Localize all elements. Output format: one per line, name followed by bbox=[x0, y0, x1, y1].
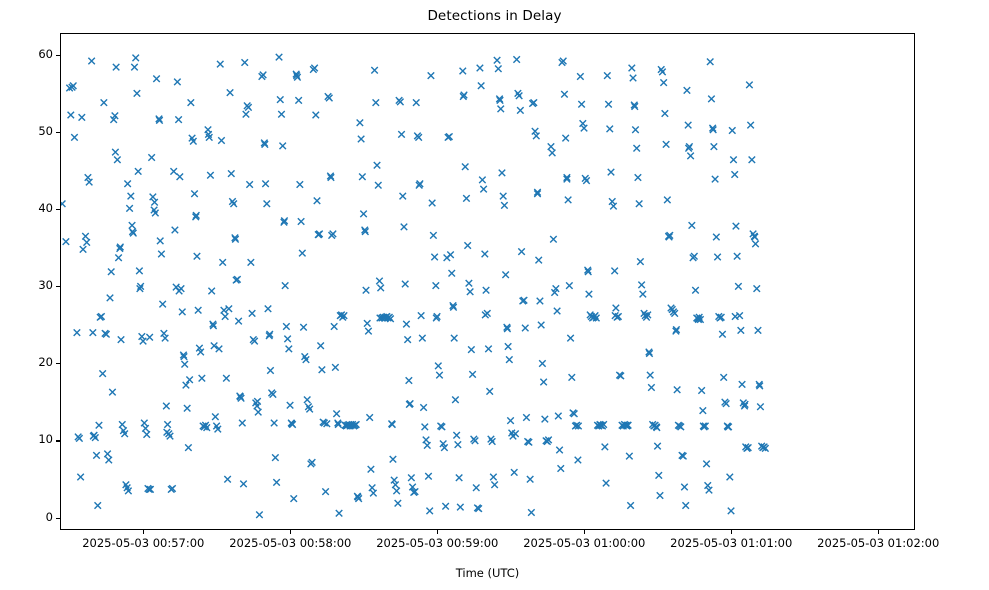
scatter-point bbox=[134, 90, 141, 97]
scatter-point bbox=[264, 201, 271, 208]
scatter-point bbox=[331, 323, 338, 330]
scatter-point bbox=[218, 137, 225, 144]
x-tick-label: 2025-05-03 01:01:00 bbox=[670, 536, 792, 550]
scatter-point bbox=[485, 346, 492, 353]
scatter-point bbox=[131, 64, 138, 71]
scatter-point bbox=[143, 431, 150, 438]
scatter-point bbox=[732, 313, 739, 320]
scatter-point bbox=[271, 420, 278, 427]
scatter-point bbox=[112, 149, 119, 156]
y-axis-ticks: 0102030405060 bbox=[0, 33, 60, 530]
scatter-point bbox=[603, 480, 610, 487]
scatter-point bbox=[153, 76, 160, 83]
scatter-point bbox=[86, 179, 93, 186]
scatter-point bbox=[164, 421, 171, 428]
scatter-point bbox=[602, 444, 609, 451]
scatter-point bbox=[469, 371, 476, 378]
scatter-point bbox=[136, 268, 143, 275]
x-tick-mark bbox=[143, 530, 144, 534]
scatter-point bbox=[626, 453, 633, 460]
scatter-point bbox=[538, 322, 545, 329]
scatter-point bbox=[373, 99, 380, 106]
scatter-point bbox=[654, 443, 661, 450]
scatter-point bbox=[170, 168, 177, 175]
scatter-point bbox=[611, 268, 618, 275]
scatter-point bbox=[132, 55, 139, 62]
scatter-point bbox=[418, 312, 425, 319]
scatter-point bbox=[511, 469, 517, 476]
scatter-point bbox=[241, 59, 248, 66]
scatter-point bbox=[489, 438, 496, 445]
scatter-point bbox=[463, 195, 470, 202]
scatter-point bbox=[219, 259, 226, 266]
scatter-point bbox=[714, 254, 721, 261]
scatter-point bbox=[306, 406, 313, 413]
scatter-point bbox=[282, 282, 289, 289]
scatter-point bbox=[221, 307, 228, 314]
scatter-point bbox=[720, 374, 727, 381]
scatter-point bbox=[255, 409, 262, 416]
scatter-point bbox=[725, 424, 732, 431]
scatter-point bbox=[528, 509, 535, 515]
scatter-point bbox=[158, 251, 165, 258]
scatter-point bbox=[577, 73, 584, 80]
x-tick-label: 2025-05-03 00:57:00 bbox=[82, 536, 204, 550]
scatter-point bbox=[77, 474, 84, 481]
scatter-point bbox=[466, 280, 473, 287]
scatter-point bbox=[179, 309, 186, 316]
scatter-point bbox=[157, 238, 164, 245]
scatter-point bbox=[542, 416, 549, 423]
scatter-point bbox=[460, 68, 467, 75]
scatter-point bbox=[184, 405, 191, 412]
scatter-point bbox=[118, 336, 125, 343]
scatter-point bbox=[222, 313, 229, 320]
scatter-point bbox=[430, 232, 437, 239]
scatter-point bbox=[183, 382, 190, 389]
scatter-point bbox=[583, 177, 590, 184]
scatter-point bbox=[480, 186, 487, 193]
scatter-point bbox=[578, 101, 585, 108]
scatter-point bbox=[83, 239, 90, 246]
scatter-point bbox=[500, 193, 507, 200]
scatter-point bbox=[313, 112, 320, 119]
scatter-point bbox=[90, 329, 97, 336]
scatter-point bbox=[555, 413, 562, 420]
scatter-point bbox=[535, 257, 542, 264]
scatter-point bbox=[706, 487, 713, 494]
scatter-point bbox=[495, 65, 502, 72]
scatter-point bbox=[713, 234, 720, 241]
scatter-point bbox=[428, 72, 435, 79]
scatter-point bbox=[150, 194, 157, 201]
scatter-point bbox=[730, 157, 737, 163]
scatter-marker-group bbox=[60, 54, 769, 518]
scatter-point bbox=[425, 473, 432, 480]
scatter-point bbox=[317, 343, 324, 350]
scatter-point bbox=[523, 414, 530, 421]
scatter-point bbox=[638, 282, 645, 289]
scatter-point bbox=[477, 65, 484, 72]
scatter-point bbox=[687, 153, 694, 160]
scatter-point bbox=[456, 475, 463, 482]
scatter-point bbox=[403, 321, 410, 328]
scatter-point bbox=[444, 255, 451, 261]
scatter-point bbox=[648, 384, 655, 391]
scatter-point bbox=[395, 500, 402, 507]
scatter-point bbox=[746, 82, 753, 89]
scatter-point bbox=[141, 420, 148, 427]
scatter-point bbox=[142, 425, 149, 432]
scatter-point bbox=[95, 502, 102, 509]
scatter-point bbox=[682, 502, 689, 509]
scatter-point bbox=[562, 135, 569, 142]
scatter-point bbox=[71, 134, 78, 141]
scatter-point bbox=[610, 203, 617, 210]
scatter-point bbox=[453, 432, 460, 439]
scatter-point bbox=[486, 388, 493, 395]
scatter-point bbox=[374, 162, 381, 169]
scatter-point bbox=[413, 99, 420, 106]
scatter-point bbox=[363, 287, 370, 294]
scatter-point bbox=[226, 305, 233, 312]
scatter-point bbox=[729, 127, 736, 134]
scatter-point bbox=[392, 481, 399, 488]
scatter-point bbox=[567, 335, 574, 342]
scatter-point bbox=[565, 197, 572, 204]
scatter-point bbox=[85, 174, 92, 181]
scatter-point bbox=[273, 479, 280, 486]
x-axis-ticks: 2025-05-03 00:57:002025-05-03 00:58:0020… bbox=[60, 530, 915, 570]
scatter-point bbox=[104, 451, 111, 458]
scatter-point bbox=[532, 128, 539, 134]
scatter-point bbox=[230, 201, 237, 208]
scatter-point bbox=[235, 318, 242, 325]
scatter-point bbox=[550, 236, 557, 243]
scatter-point bbox=[580, 120, 587, 127]
scatter-point bbox=[88, 58, 94, 65]
scatter-point bbox=[517, 107, 524, 114]
scatter-point bbox=[513, 56, 520, 63]
scatter-point bbox=[391, 477, 398, 484]
scatter-point bbox=[207, 172, 214, 179]
scatter-point bbox=[575, 457, 582, 464]
scatter-point bbox=[533, 133, 540, 140]
scatter-point bbox=[278, 111, 285, 118]
scatter-point bbox=[82, 233, 89, 240]
scatter-point bbox=[501, 202, 508, 209]
scatter-point bbox=[613, 305, 620, 312]
scatter-point bbox=[164, 429, 171, 436]
scatter-point bbox=[376, 278, 383, 285]
scatter-point bbox=[498, 106, 505, 113]
scatter-point bbox=[630, 75, 637, 82]
scatter-point bbox=[369, 485, 376, 492]
scatter-point bbox=[473, 485, 480, 492]
scatter-point bbox=[333, 410, 340, 417]
scatter-point bbox=[734, 253, 741, 260]
scatter-point bbox=[423, 437, 430, 444]
scatter-point bbox=[455, 441, 462, 448]
scatter-point bbox=[703, 461, 710, 468]
scatter-point bbox=[539, 360, 546, 367]
scatter-point bbox=[491, 481, 498, 488]
y-tick-label: 10 bbox=[0, 432, 53, 446]
scatter-point bbox=[267, 367, 274, 374]
scatter-point bbox=[707, 59, 714, 66]
scatter-series bbox=[61, 34, 915, 530]
scatter-point bbox=[719, 331, 726, 338]
scatter-point bbox=[248, 259, 255, 266]
scatter-point bbox=[692, 287, 699, 294]
scatter-point bbox=[284, 336, 291, 343]
scatter-point bbox=[452, 397, 459, 404]
scatter-point bbox=[249, 310, 256, 317]
scatter-point bbox=[276, 54, 283, 61]
scatter-point bbox=[139, 333, 146, 340]
scatter-point bbox=[607, 126, 614, 133]
scatter-point bbox=[663, 141, 670, 148]
scatter-point bbox=[569, 374, 576, 381]
scatter-point bbox=[566, 282, 573, 289]
scatter-point bbox=[478, 82, 485, 89]
scatter-point bbox=[240, 481, 247, 488]
scatter-point bbox=[295, 97, 302, 104]
scatter-point bbox=[502, 272, 509, 279]
scatter-point bbox=[479, 177, 486, 184]
scatter-point bbox=[176, 288, 183, 295]
scatter-point bbox=[208, 288, 215, 295]
scatter-point bbox=[80, 246, 87, 253]
x-tick-mark bbox=[878, 530, 879, 534]
scatter-point bbox=[681, 484, 688, 491]
scatter-point bbox=[223, 375, 230, 382]
scatter-point bbox=[494, 57, 501, 64]
y-tick-label: 60 bbox=[0, 47, 53, 61]
scatter-point bbox=[442, 503, 449, 510]
scatter-point bbox=[277, 96, 284, 103]
scatter-point bbox=[664, 197, 671, 204]
scatter-point bbox=[400, 193, 407, 200]
scatter-point bbox=[96, 422, 103, 429]
scatter-point bbox=[506, 356, 513, 363]
scatter-point bbox=[404, 336, 411, 343]
scatter-point bbox=[212, 414, 219, 421]
scatter-point bbox=[135, 168, 142, 175]
scatter-point bbox=[537, 298, 544, 305]
scatter-point bbox=[194, 253, 201, 260]
scatter-point bbox=[68, 112, 75, 119]
scatter-point bbox=[727, 474, 734, 481]
scatter-point bbox=[640, 291, 647, 298]
scatter-point bbox=[359, 174, 366, 181]
scatter-point bbox=[375, 182, 382, 189]
scatter-point bbox=[749, 157, 756, 163]
scatter-point bbox=[283, 323, 290, 330]
scatter-point bbox=[106, 457, 113, 464]
scatter-point bbox=[561, 91, 568, 98]
scatter-point bbox=[527, 476, 534, 483]
scatter-point bbox=[406, 377, 413, 384]
scatter-point bbox=[360, 211, 367, 218]
scatter-point bbox=[633, 145, 640, 152]
scatter-point bbox=[507, 417, 514, 424]
x-tick-label: 2025-05-03 00:58:00 bbox=[229, 536, 351, 550]
scatter-point bbox=[467, 289, 474, 296]
scatter-point bbox=[177, 174, 184, 181]
x-tick-mark bbox=[731, 530, 732, 534]
scatter-point bbox=[731, 171, 738, 178]
scatter-point bbox=[390, 456, 397, 463]
scatter-point bbox=[227, 89, 234, 96]
scatter-point bbox=[735, 283, 742, 290]
scatter-point bbox=[647, 372, 654, 379]
scatter-point bbox=[656, 472, 663, 479]
scatter-point bbox=[151, 199, 158, 206]
scatter-point bbox=[449, 270, 456, 277]
scatter-point bbox=[757, 404, 764, 411]
scatter-point bbox=[389, 421, 396, 428]
scatter-point bbox=[286, 346, 293, 353]
scatter-point bbox=[433, 282, 440, 289]
scatter-point bbox=[705, 482, 712, 489]
scatter-point bbox=[371, 67, 378, 74]
scatter-point bbox=[107, 295, 114, 302]
scatter-point bbox=[435, 363, 442, 370]
scatter-point bbox=[482, 251, 489, 258]
scatter-point bbox=[265, 305, 272, 312]
scatter-point bbox=[401, 224, 408, 231]
scatter-point bbox=[239, 420, 246, 427]
scatter-point bbox=[314, 197, 321, 204]
scatter-point bbox=[305, 404, 312, 411]
scatter-point bbox=[115, 255, 122, 261]
scatter-point bbox=[262, 180, 269, 187]
scatter-point bbox=[186, 376, 193, 383]
scatter-point bbox=[457, 504, 464, 511]
scatter-point bbox=[191, 191, 198, 198]
y-tick-label: 20 bbox=[0, 355, 53, 369]
scatter-point bbox=[608, 169, 615, 176]
scatter-point bbox=[181, 361, 188, 368]
scatter-point bbox=[658, 66, 665, 73]
scatter-point bbox=[755, 327, 762, 334]
scatter-point bbox=[462, 163, 469, 170]
scatter-point bbox=[108, 268, 115, 275]
scatter-point bbox=[370, 490, 377, 497]
x-tick-label: 2025-05-03 00:59:00 bbox=[376, 536, 498, 550]
scatter-point bbox=[332, 364, 339, 371]
scatter-point bbox=[490, 474, 497, 481]
scatter-point bbox=[148, 154, 155, 161]
scatter-point bbox=[408, 475, 415, 482]
y-tick-label: 40 bbox=[0, 201, 53, 215]
scatter-point bbox=[364, 320, 371, 327]
scatter-point bbox=[420, 404, 427, 411]
scatter-point bbox=[739, 381, 746, 388]
scatter-point bbox=[636, 201, 643, 208]
scatter-point bbox=[146, 334, 153, 341]
scatter-point bbox=[711, 143, 718, 150]
scatter-point bbox=[322, 488, 329, 495]
scatter-point bbox=[657, 492, 664, 499]
scatter-point bbox=[199, 375, 206, 382]
scatter-point bbox=[365, 328, 372, 335]
scatter-point bbox=[243, 111, 250, 118]
scatter-point bbox=[129, 222, 136, 229]
scatter-point bbox=[422, 424, 429, 431]
scatter-point bbox=[548, 143, 555, 150]
scatter-point bbox=[733, 223, 740, 230]
scatter-point bbox=[229, 198, 236, 205]
scatter-point bbox=[195, 307, 202, 314]
scatter-point bbox=[674, 387, 681, 394]
scatter-point bbox=[419, 335, 426, 342]
scatter-point bbox=[159, 301, 166, 308]
x-axis-label: Time (UTC) bbox=[60, 566, 915, 580]
scatter-point bbox=[515, 90, 522, 97]
x-tick-mark bbox=[290, 530, 291, 534]
scatter-point bbox=[698, 387, 705, 394]
scatter-point bbox=[161, 330, 168, 337]
scatter-point bbox=[747, 122, 754, 129]
scatter-point bbox=[93, 452, 100, 459]
scatter-point bbox=[662, 110, 669, 117]
scatter-point bbox=[429, 200, 436, 207]
x-tick-label: 2025-05-03 01:00:00 bbox=[523, 536, 645, 550]
scatter-point bbox=[366, 414, 373, 421]
scatter-point bbox=[279, 143, 286, 150]
scatter-point bbox=[398, 131, 405, 138]
scatter-point bbox=[290, 495, 297, 502]
y-tick-label: 50 bbox=[0, 124, 53, 138]
scatter-point bbox=[632, 126, 639, 133]
scatter-point bbox=[426, 508, 433, 515]
scatter-point bbox=[336, 510, 343, 517]
scatter-point bbox=[109, 389, 116, 396]
scatter-point bbox=[113, 64, 120, 71]
scatter-point bbox=[224, 476, 231, 483]
scatter-point bbox=[172, 227, 179, 234]
scatter-point bbox=[728, 508, 735, 515]
scatter-point bbox=[163, 403, 170, 410]
scatter-point bbox=[505, 343, 512, 350]
scatter-point bbox=[377, 285, 384, 292]
scatter-point bbox=[700, 407, 707, 414]
chart-title: Detections in Delay bbox=[0, 8, 989, 24]
scatter-point bbox=[272, 454, 279, 461]
scatter-point bbox=[522, 325, 529, 332]
scatter-point bbox=[516, 92, 523, 98]
scatter-point bbox=[637, 258, 644, 265]
plot-area bbox=[60, 33, 915, 530]
scatter-point bbox=[482, 312, 489, 319]
scatter-point bbox=[582, 175, 589, 182]
x-tick-mark bbox=[584, 530, 585, 534]
scatter-point bbox=[685, 122, 692, 129]
scatter-point bbox=[60, 201, 65, 208]
scatter-point bbox=[581, 125, 588, 131]
scatter-point bbox=[708, 96, 715, 103]
scatter-point bbox=[499, 170, 506, 177]
y-tick-label: 0 bbox=[0, 510, 53, 524]
scatter-point bbox=[140, 338, 147, 345]
scatter-point bbox=[556, 447, 563, 454]
scatter-point bbox=[659, 69, 666, 76]
scatter-point bbox=[299, 250, 306, 256]
scatter-point bbox=[488, 436, 495, 443]
scatter-point bbox=[304, 397, 311, 404]
